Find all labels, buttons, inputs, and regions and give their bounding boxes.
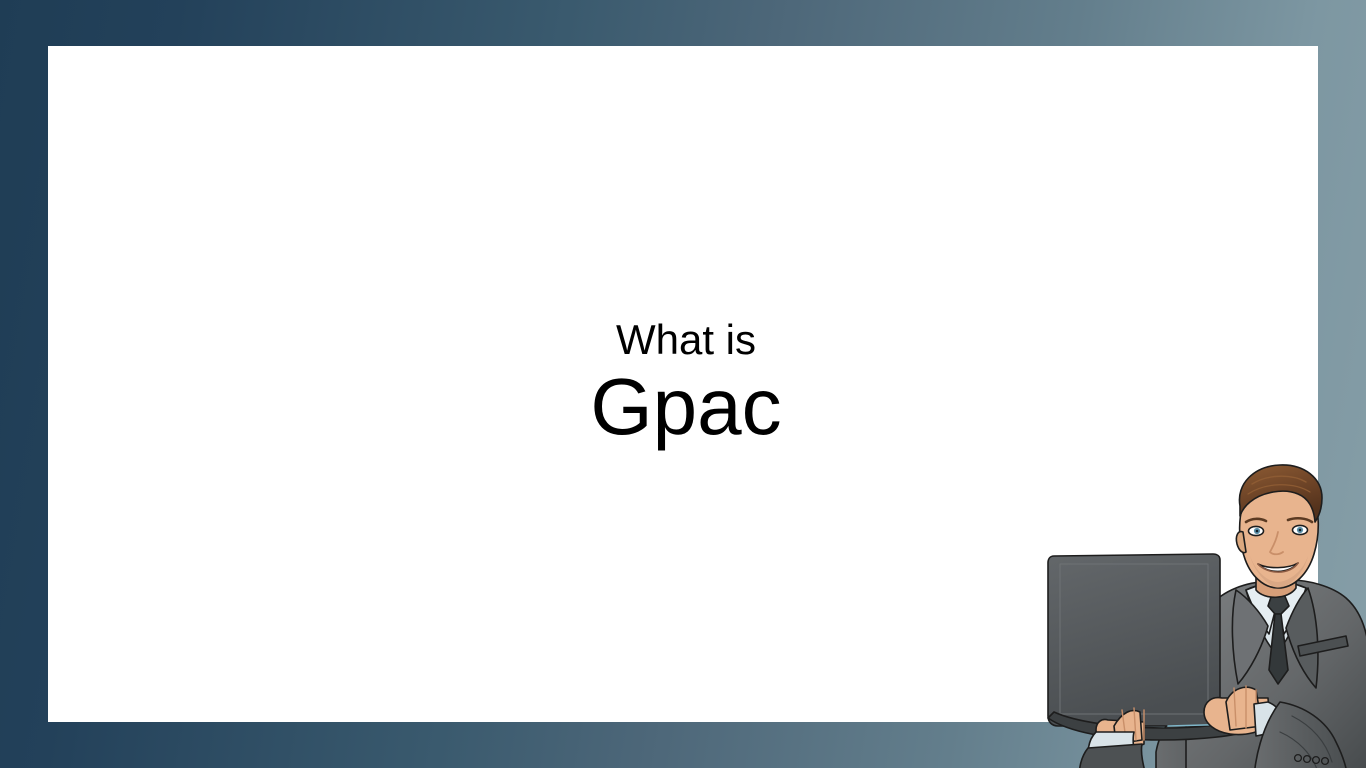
laptop-base-highlight xyxy=(1168,724,1240,726)
cuff-button-1 xyxy=(1295,755,1302,762)
hand-left xyxy=(1096,719,1144,748)
presentation-slide: What is Gpac xyxy=(0,0,1366,768)
suit-sleeve-left xyxy=(1079,744,1148,768)
sleeve-fold-1 xyxy=(1292,716,1332,762)
slide-content-card: What is Gpac xyxy=(48,46,1318,722)
title-main-text: Gpac xyxy=(590,364,781,450)
title-eyebrow-text: What is xyxy=(616,318,756,363)
shirt-cuff-left xyxy=(1088,732,1136,766)
cuff-button-4 xyxy=(1322,758,1329,765)
cuff-button-3 xyxy=(1313,757,1320,764)
title-block: What is Gpac xyxy=(48,46,1318,722)
sleeve-fold-2 xyxy=(1280,732,1318,768)
cuff-button-2 xyxy=(1304,756,1311,763)
